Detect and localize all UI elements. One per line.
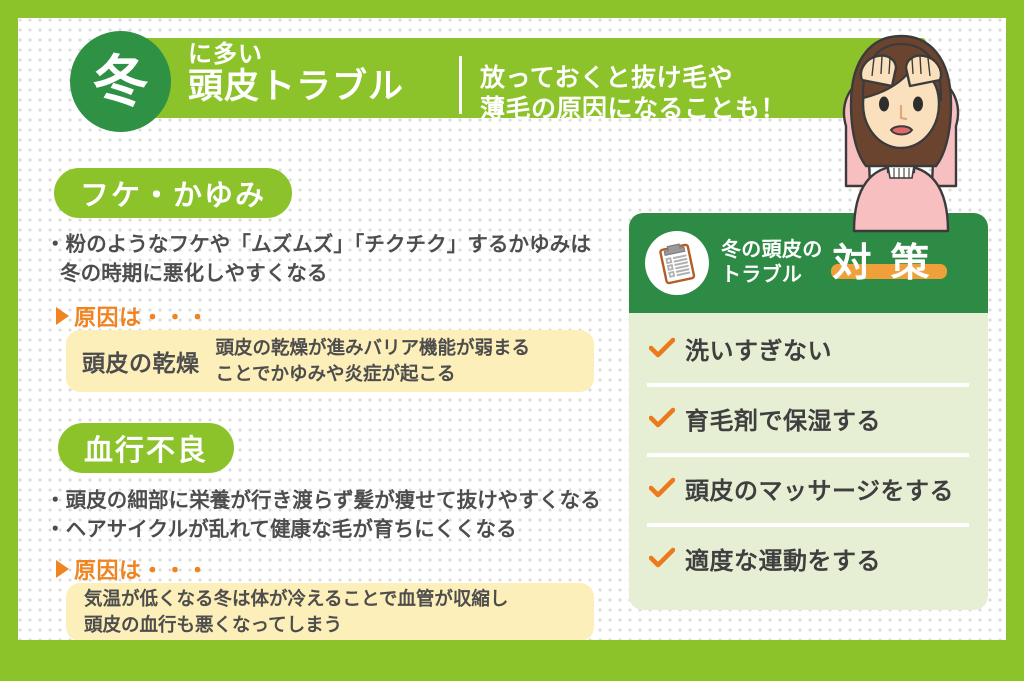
season-badge: 冬 bbox=[70, 31, 171, 132]
section-pill-poor-circulation: 血行不良 bbox=[58, 423, 234, 473]
checklist-item-label: 洗いすぎない bbox=[685, 331, 832, 366]
cause-box-body-line: ことでかゆみや炎症が起こる bbox=[216, 361, 531, 387]
triangle-right-icon bbox=[56, 307, 69, 325]
cause-box-body: 気温が低くなる冬は体が冷えることで血管が収縮し 頭皮の血行も悪くなってしまう bbox=[66, 586, 508, 638]
checklist-item-label: 育毛剤で保湿する bbox=[685, 401, 881, 436]
section-pill-label: 血行不良 bbox=[84, 427, 208, 469]
checklist-item[interactable]: 洗いすぎない bbox=[629, 313, 988, 383]
check-icon bbox=[649, 547, 675, 569]
cause-label-1: 原因は・・・ bbox=[56, 300, 209, 332]
checklist-item-label: 適度な運動をする bbox=[685, 541, 881, 576]
header-divider bbox=[459, 56, 462, 114]
section-pill-label: フケ・かゆみ bbox=[80, 172, 266, 214]
bullet-line: 冬の時期に悪化しやすくなる bbox=[45, 259, 645, 288]
checklist-item-label: 頭皮のマッサージをする bbox=[685, 471, 954, 506]
header-subtitle-block: 放っておくと抜け毛や 薄毛の原因になることも！ bbox=[480, 63, 786, 126]
worried-woman-illustration bbox=[796, 26, 1006, 241]
section-1-bullets: ・粉のようなフケや「ムズムズ」「チクチク」するかゆみは 冬の時期に悪化しやすくな… bbox=[45, 230, 645, 288]
header-title-block: に多い 頭皮トラブル bbox=[188, 42, 404, 106]
countermeasures-panel: 冬の頭皮の トラブル 対 策 洗いすぎない 育毛剤で保湿する bbox=[629, 213, 988, 610]
cause-box-1: 頭皮の乾燥 頭皮の乾燥が進みバリア機能が弱まる ことでかゆみや炎症が起こる bbox=[66, 330, 594, 392]
check-icon bbox=[649, 407, 675, 429]
panel-header-text: 冬の頭皮の トラブル bbox=[721, 238, 823, 288]
panel-header-line-2: トラブル bbox=[721, 263, 823, 288]
header-title-small: に多い bbox=[188, 42, 404, 67]
season-badge-label: 冬 bbox=[93, 54, 149, 110]
section-pill-dandruff: フケ・かゆみ bbox=[54, 168, 292, 218]
cause-box-body-line: 頭皮の血行も悪くなってしまう bbox=[84, 612, 508, 638]
checklist-item[interactable]: 育毛剤で保湿する bbox=[629, 383, 988, 453]
bullet-line: ・頭皮の細部に栄養が行き渡らず髪が痩せて抜けやすくなる bbox=[45, 486, 645, 515]
cause-label-2: 原因は・・・ bbox=[56, 553, 209, 585]
infographic-poster: 冬 に多い 頭皮トラブル 放っておくと抜け毛や 薄毛の原因になることも！ bbox=[0, 0, 1024, 681]
header-subtitle-line-1: 放っておくと抜け毛や bbox=[480, 63, 786, 94]
bullet-line: ・ヘアサイクルが乱れて健康な毛が育ちにくくなる bbox=[45, 515, 645, 544]
cause-label-text: 原因は・・・ bbox=[74, 553, 209, 585]
bullet-line: ・粉のようなフケや「ムズムズ」「チクチク」するかゆみは bbox=[45, 230, 645, 259]
panel-emphasis-block: 対 策 bbox=[833, 244, 934, 283]
clipboard-checklist-icon bbox=[645, 231, 709, 295]
header-subtitle-line-2: 薄毛の原因になることも！ bbox=[480, 94, 786, 125]
cause-box-2: 気温が低くなる冬は体が冷えることで血管が収縮し 頭皮の血行も悪くなってしまう bbox=[66, 583, 594, 640]
section-2-bullets: ・頭皮の細部に栄養が行き渡らず髪が痩せて抜けやすくなる ・ヘアサイクルが乱れて健… bbox=[45, 486, 645, 544]
cause-box-body: 頭皮の乾燥が進みバリア機能が弱まる ことでかゆみや炎症が起こる bbox=[200, 335, 531, 387]
checklist-item[interactable]: 頭皮のマッサージをする bbox=[629, 453, 988, 523]
triangle-right-icon bbox=[56, 560, 69, 578]
header-title-big: 頭皮トラブル bbox=[188, 67, 404, 106]
checklist-item[interactable]: 適度な運動をする bbox=[629, 523, 988, 593]
poster-canvas: 冬 に多い 頭皮トラブル 放っておくと抜け毛や 薄毛の原因になることも！ bbox=[18, 18, 1006, 640]
panel-header-line-1: 冬の頭皮の bbox=[721, 238, 823, 263]
cause-box-body-line: 頭皮の乾燥が進みバリア機能が弱まる bbox=[216, 335, 531, 361]
cause-label-text: 原因は・・・ bbox=[74, 300, 209, 332]
check-icon bbox=[649, 337, 675, 359]
panel-emphasis-label: 対 策 bbox=[833, 244, 934, 283]
check-icon bbox=[649, 477, 675, 499]
cause-box-body-line: 気温が低くなる冬は体が冷えることで血管が収縮し bbox=[84, 586, 508, 612]
cause-box-title: 頭皮の乾燥 bbox=[66, 344, 200, 378]
